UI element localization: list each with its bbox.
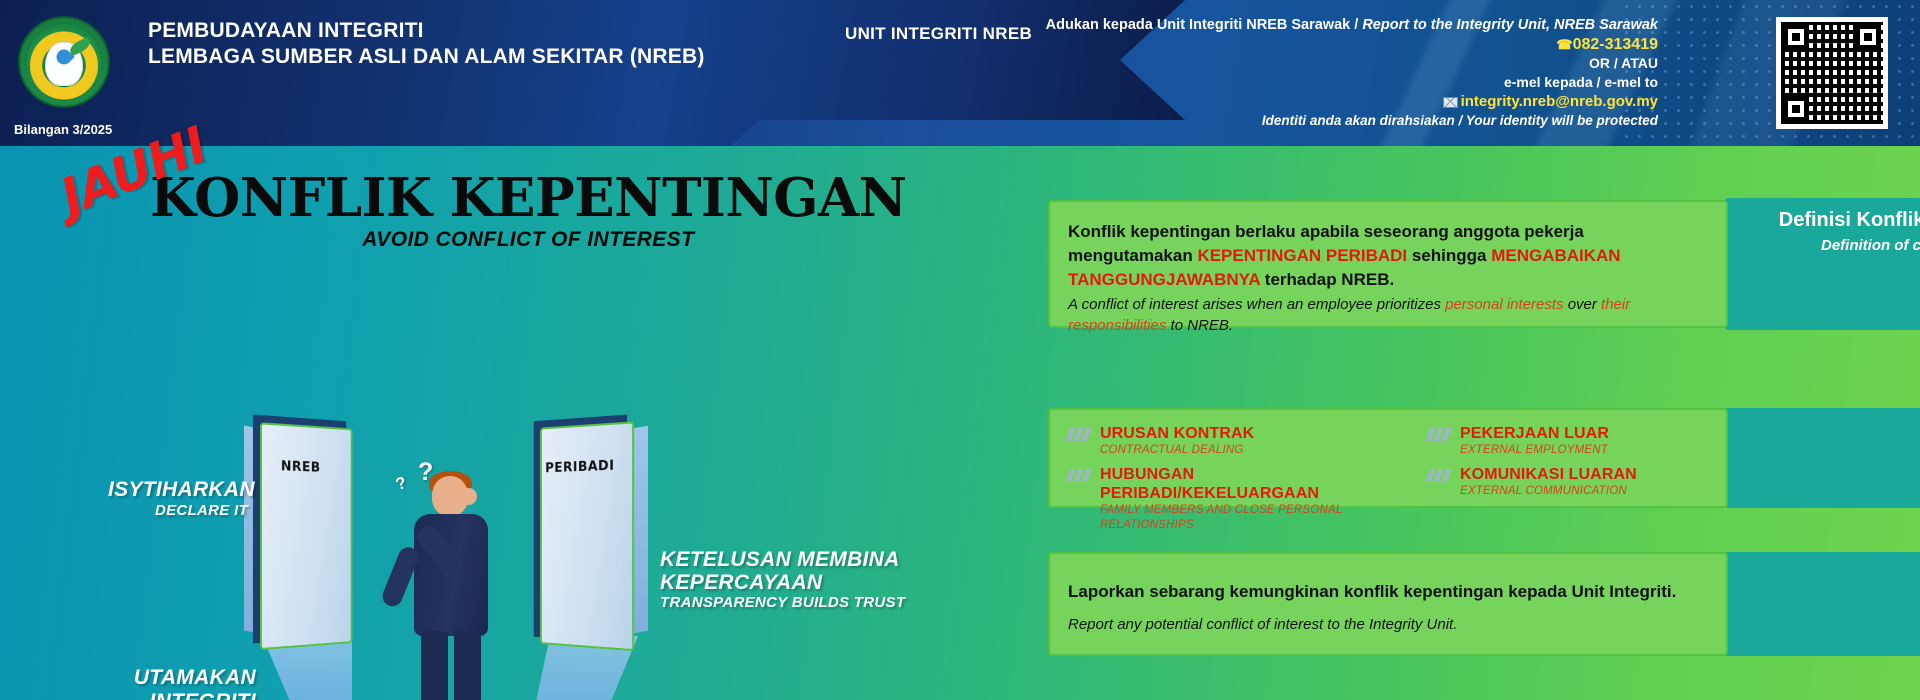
label-declare-it: ISYTIHARKAN DECLARE IT <box>108 478 248 519</box>
org-line-2: LEMBAGA SUMBER ASLI DAN ALAM SEKITAR (NR… <box>148 44 705 70</box>
label-trust-ms-1: KETELUSAN MEMBINA <box>660 548 910 571</box>
infographic-poster: PEMBUDAYAAN INTEGRITI LEMBAGA SUMBER ASL… <box>0 0 1920 700</box>
person-illustration: ? ? ? <box>388 476 518 700</box>
label-trust-ms-2: KEPERCAYAAN <box>660 571 910 594</box>
person-hand <box>460 488 477 505</box>
tag-action-en: Action step <box>1745 607 1920 627</box>
report-line: Adukan kepada Unit Integriti NREB Sarawa… <box>998 16 1658 35</box>
qr-finder-top-right <box>1855 24 1881 50</box>
tag-example-en: EXAMPLE <box>1745 461 1920 481</box>
nreb-logo <box>18 16 110 108</box>
definition-en-part2: over <box>1564 296 1602 313</box>
example-label-en: FAMILY MEMBERS AND CLOSE PERSONAL RELATI… <box>1100 503 1408 533</box>
privacy-note: Identiti anda akan dirahsiakan / Your id… <box>998 111 1658 130</box>
door-peribadi-label: PERIBADI <box>534 458 627 477</box>
definition-en-part1: A conflict of interest arises when an em… <box>1068 296 1445 313</box>
definition-ms-part2: sehingga <box>1407 246 1491 265</box>
definition-en-highlight1: personal interests <box>1445 296 1563 313</box>
label-integrity-ms: UTAMAKAN INTEGRITI <box>36 666 256 700</box>
poster-title-block: JAUHI KONFLIK KEPENTINGAN AVOID CONFLICT… <box>150 170 907 252</box>
qr-code-pattern <box>1781 22 1883 124</box>
or-label: OR / ATAU <box>998 54 1658 73</box>
page-subtitle: AVOID CONFLICT OF INTEREST <box>150 228 907 252</box>
email-label: e-mel kepada / e-mel to <box>998 73 1658 92</box>
tag-example-ms: CONTOH <box>1745 436 1920 461</box>
org-line-1: PEMBUDAYAAN INTEGRITI <box>148 18 705 44</box>
tag-action-ms: Tindakan <box>1745 582 1920 607</box>
email-address: integrity.nreb@nreb.gov.my <box>1461 93 1658 110</box>
door-peribadi-panel <box>540 421 634 651</box>
definition-ms-highlight1: KEPENTINGAN PERIBADI <box>1197 246 1407 265</box>
definition-text-en: A conflict of interest arises when an em… <box>1068 294 1708 336</box>
label-transparency-trust: KETELUSAN MEMBINA KEPERCAYAAN TRANSPAREN… <box>660 548 910 611</box>
chevron-bars-icon <box>1428 428 1452 441</box>
qr-code[interactable] <box>1776 17 1888 129</box>
example-label-ms: KOMUNIKASI LUARAN <box>1460 465 1728 484</box>
chevron-bars-icon <box>1068 428 1092 441</box>
person-leg-left <box>421 631 448 700</box>
header-org-title: PEMBUDAYAAN INTEGRITI LEMBAGA SUMBER ASL… <box>148 18 705 70</box>
email-line[interactable]: integrity.nreb@nreb.gov.my <box>998 92 1658 111</box>
definition-en-part3: to NREB. <box>1166 317 1233 334</box>
header-contact-block: Adukan kepada Unit Integriti NREB Sarawa… <box>998 16 1658 130</box>
example-item: KOMUNIKASI LUARAN EXTERNAL COMMUNICATION <box>1428 465 1728 499</box>
panel-definition: Konflik kepentingan berlaku apabila sese… <box>1048 200 1728 328</box>
label-trust-en: TRANSPARENCY BUILDS TRUST <box>660 594 910 611</box>
qr-finder-top-left <box>1783 24 1809 50</box>
definition-text-ms: Konflik kepentingan berlaku apabila sese… <box>1068 220 1708 292</box>
issue-number: Bilangan 3/2025 <box>14 122 112 137</box>
label-integrity-first: UTAMAKAN INTEGRITI INTEGRITY FIRST <box>36 666 256 700</box>
envelope-icon <box>1443 97 1458 108</box>
qr-finder-bottom-left <box>1783 96 1809 122</box>
door-nreb-panel <box>260 422 352 650</box>
action-text-ms: Laporkan sebarang kemungkinan konflik ke… <box>1068 582 1708 602</box>
action-text-en: Report any potential conflict of interes… <box>1068 616 1708 633</box>
person-legs <box>419 631 483 700</box>
door-peribadi: PERIBADI <box>534 415 627 644</box>
phone-number: 082-313419 <box>1573 36 1658 53</box>
door-nreb-label: NREB <box>253 458 346 477</box>
example-label-en: CONTRACTUAL DEALING <box>1100 443 1408 458</box>
example-label-ms: PEKERJAAN LUAR <box>1460 424 1728 443</box>
question-mark-1: ? <box>393 473 409 495</box>
illustration-area: JAUHI KONFLIK KEPENTINGAN AVOID CONFLICT… <box>0 146 1040 700</box>
label-declare-en: DECLARE IT <box>108 502 248 519</box>
page-title: KONFLIK KEPENTINGAN <box>150 170 907 226</box>
report-line-ms: Adukan kepada Unit Integriti NREB Sarawa… <box>1046 17 1363 33</box>
examples-column-1: URUSAN KONTRAK CONTRACTUAL DEALING HUBUN… <box>1068 424 1408 540</box>
example-label-ms: URUSAN KONTRAK <box>1100 424 1408 443</box>
tag-definition-en: Definition of conflicts of interest <box>1745 236 1920 256</box>
panel-examples: URUSAN KONTRAK CONTRACTUAL DEALING HUBUN… <box>1048 408 1728 508</box>
panel-action: Laporkan sebarang kemungkinan konflik ke… <box>1048 552 1728 656</box>
label-declare-ms: ISYTIHARKAN <box>108 478 248 502</box>
example-item: HUBUNGAN PERIBADI/KEKELUARGAAN FAMILY ME… <box>1068 465 1408 533</box>
example-label-ms: HUBUNGAN PERIBADI/KEKELUARGAAN <box>1100 465 1408 503</box>
example-label-en: EXTERNAL EMPLOYMENT <box>1460 443 1728 458</box>
definition-ms-part3: terhadap NREB. <box>1260 270 1394 289</box>
phone-icon: ☎ <box>1556 37 1572 52</box>
examples-column-2: PEKERJAAN LUAR EXTERNAL EMPLOYMENT KOMUN… <box>1428 424 1728 506</box>
phone-line[interactable]: ☎082-313419 <box>998 35 1658 54</box>
chevron-bars-icon <box>1428 469 1452 482</box>
report-line-en: Report to the Integrity Unit, NREB Saraw… <box>1362 17 1658 33</box>
example-item: URUSAN KONTRAK CONTRACTUAL DEALING <box>1068 424 1408 458</box>
tag-definition-ms: Definisi Konflik Kepentingan <box>1745 208 1920 233</box>
example-label-en: EXTERNAL COMMUNICATION <box>1460 484 1728 499</box>
door-nreb: NREB <box>253 415 346 644</box>
chevron-bars-icon <box>1068 469 1092 482</box>
person-leg-right <box>454 631 481 700</box>
poster-header: PEMBUDAYAAN INTEGRITI LEMBAGA SUMBER ASL… <box>0 0 1920 146</box>
example-item: PEKERJAAN LUAR EXTERNAL EMPLOYMENT <box>1428 424 1728 458</box>
